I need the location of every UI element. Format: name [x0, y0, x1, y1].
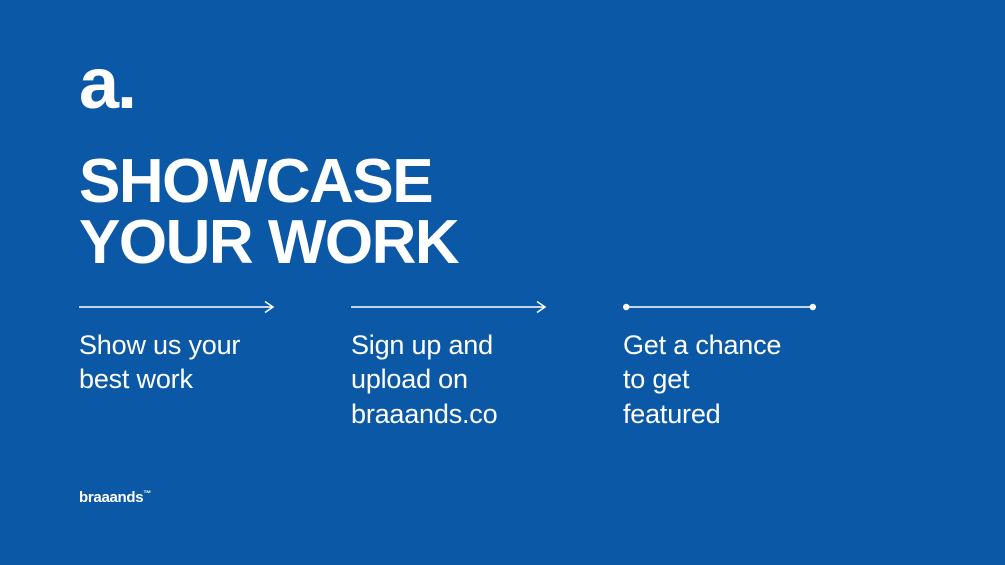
step-column-1: Show us your best work — [79, 300, 334, 431]
brand-logo-mark: a. — [79, 48, 135, 120]
step-column-1-text: Show us your best work — [79, 328, 334, 397]
step-column-3: Get a chance to get featured — [623, 300, 878, 431]
arrow-right-icon — [351, 300, 606, 314]
page-title: SHOWCASE YOUR WORK — [79, 152, 458, 274]
step-column-3-text: Get a chance to get featured — [623, 328, 878, 431]
step-2-line-1: Sign up and — [351, 328, 606, 362]
footer-wordmark: braaands™ — [79, 489, 151, 506]
headline-line-1: SHOWCASE — [79, 152, 458, 213]
step-2-line-3: braaands.co — [351, 397, 606, 431]
step-1-line-2: best work — [79, 362, 334, 396]
step-column-2: Sign up and upload on braaands.co — [351, 300, 606, 431]
footer-wordmark-text: braaands — [79, 489, 143, 506]
step-3-line-1: Get a chance — [623, 328, 878, 362]
steps-row: Show us your best work Sign up and uploa… — [79, 300, 879, 431]
arrow-right-icon — [79, 300, 334, 314]
dot-ended-line-icon — [623, 300, 878, 314]
step-2-line-2: upload on — [351, 362, 606, 396]
trademark-icon: ™ — [143, 489, 151, 498]
step-3-line-3: featured — [623, 397, 878, 431]
step-1-line-1: Show us your — [79, 328, 334, 362]
slide-canvas: a. SHOWCASE YOUR WORK Show us your best … — [0, 0, 1005, 565]
headline-line-2: YOUR WORK — [79, 213, 458, 274]
step-column-2-text: Sign up and upload on braaands.co — [351, 328, 606, 431]
step-3-line-2: to get — [623, 362, 878, 396]
